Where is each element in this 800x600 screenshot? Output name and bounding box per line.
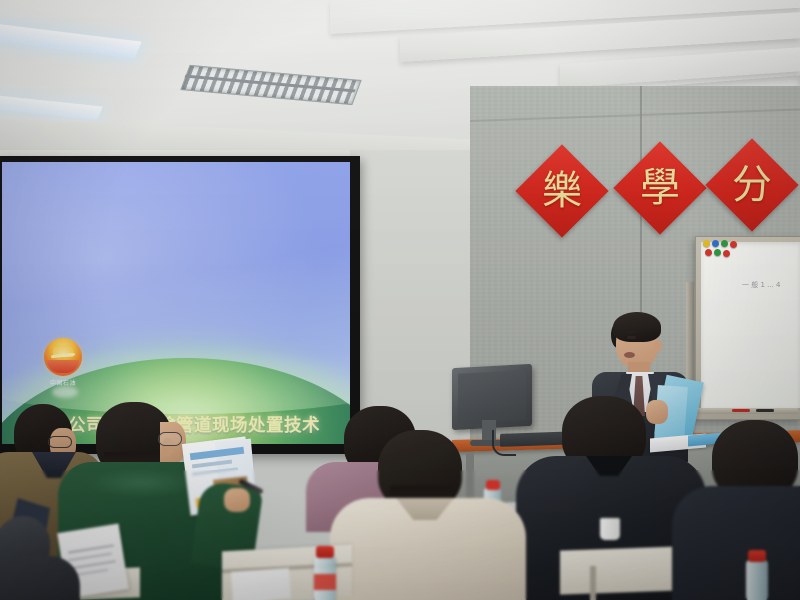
- eyeglasses-icon-2: [158, 432, 182, 446]
- water-bottle-mid-cap: [486, 480, 500, 490]
- attendee-foreground-body: [0, 556, 80, 600]
- magnet-red-3[interactable]: [723, 250, 730, 257]
- water-bottle-foreground-cap: [316, 546, 334, 558]
- papers-foreground-middle: [231, 568, 291, 600]
- marker-black[interactable]: [756, 409, 774, 412]
- whiteboard-writing: 一 般 1 ... 4: [742, 280, 800, 291]
- wall-plaque-3-character: 分: [719, 152, 785, 218]
- slide-globe-highlight: [52, 386, 78, 398]
- magnet-red-2[interactable]: [705, 249, 712, 256]
- petrochina-logo: 中国石油: [44, 338, 82, 386]
- attendee-green-sweater-highlight: [86, 468, 196, 498]
- wall-plaque-1: 樂: [515, 144, 608, 237]
- water-bottle-right-cap: [748, 550, 766, 562]
- conference-room-photo: 中国石油 集团公司油气长输管道现场处置技术 培训班 樂 學 分 一 般 1 ..…: [0, 0, 800, 600]
- marker-red[interactable]: [732, 409, 750, 412]
- eyeglasses-icon: [48, 436, 72, 448]
- presenter-hand: [646, 400, 668, 424]
- magnet-green[interactable]: [721, 240, 728, 247]
- wall-plaque-1-character: 樂: [529, 158, 595, 224]
- presenter-ear: [654, 340, 662, 352]
- magnet-yellow[interactable]: [703, 240, 710, 247]
- attendee-green-sweater-hand: [224, 488, 250, 512]
- wall-plaque-3: 分: [705, 138, 798, 231]
- whiteboard-magnets[interactable]: [703, 240, 739, 258]
- magnet-green-2[interactable]: [714, 249, 721, 256]
- presenter-mouth: [624, 352, 635, 358]
- logo-wordmark: 中国石油: [42, 378, 84, 387]
- paper-cup: [600, 518, 620, 540]
- desk-row-right-leg: [590, 566, 596, 600]
- monitor-rear-panel: [458, 370, 526, 424]
- water-bottle-foreground-label: [314, 574, 336, 590]
- presenter-eye: [627, 336, 636, 339]
- water-bottle-right: [746, 560, 768, 600]
- presenter-eyebrow: [626, 331, 637, 333]
- attendee-navy-suit-body: [672, 486, 800, 600]
- projection-screen-surface: 中国石油 集团公司油气长输管道现场处置技术 培训班: [2, 162, 350, 444]
- magnet-red[interactable]: [730, 241, 737, 248]
- magnet-blue[interactable]: [712, 240, 719, 247]
- presenter-hair: [613, 312, 661, 342]
- whiteboard-surface[interactable]: [701, 242, 800, 408]
- wall-plaque-2-character: 學: [627, 155, 693, 221]
- wall-plaque-2: 學: [613, 141, 706, 234]
